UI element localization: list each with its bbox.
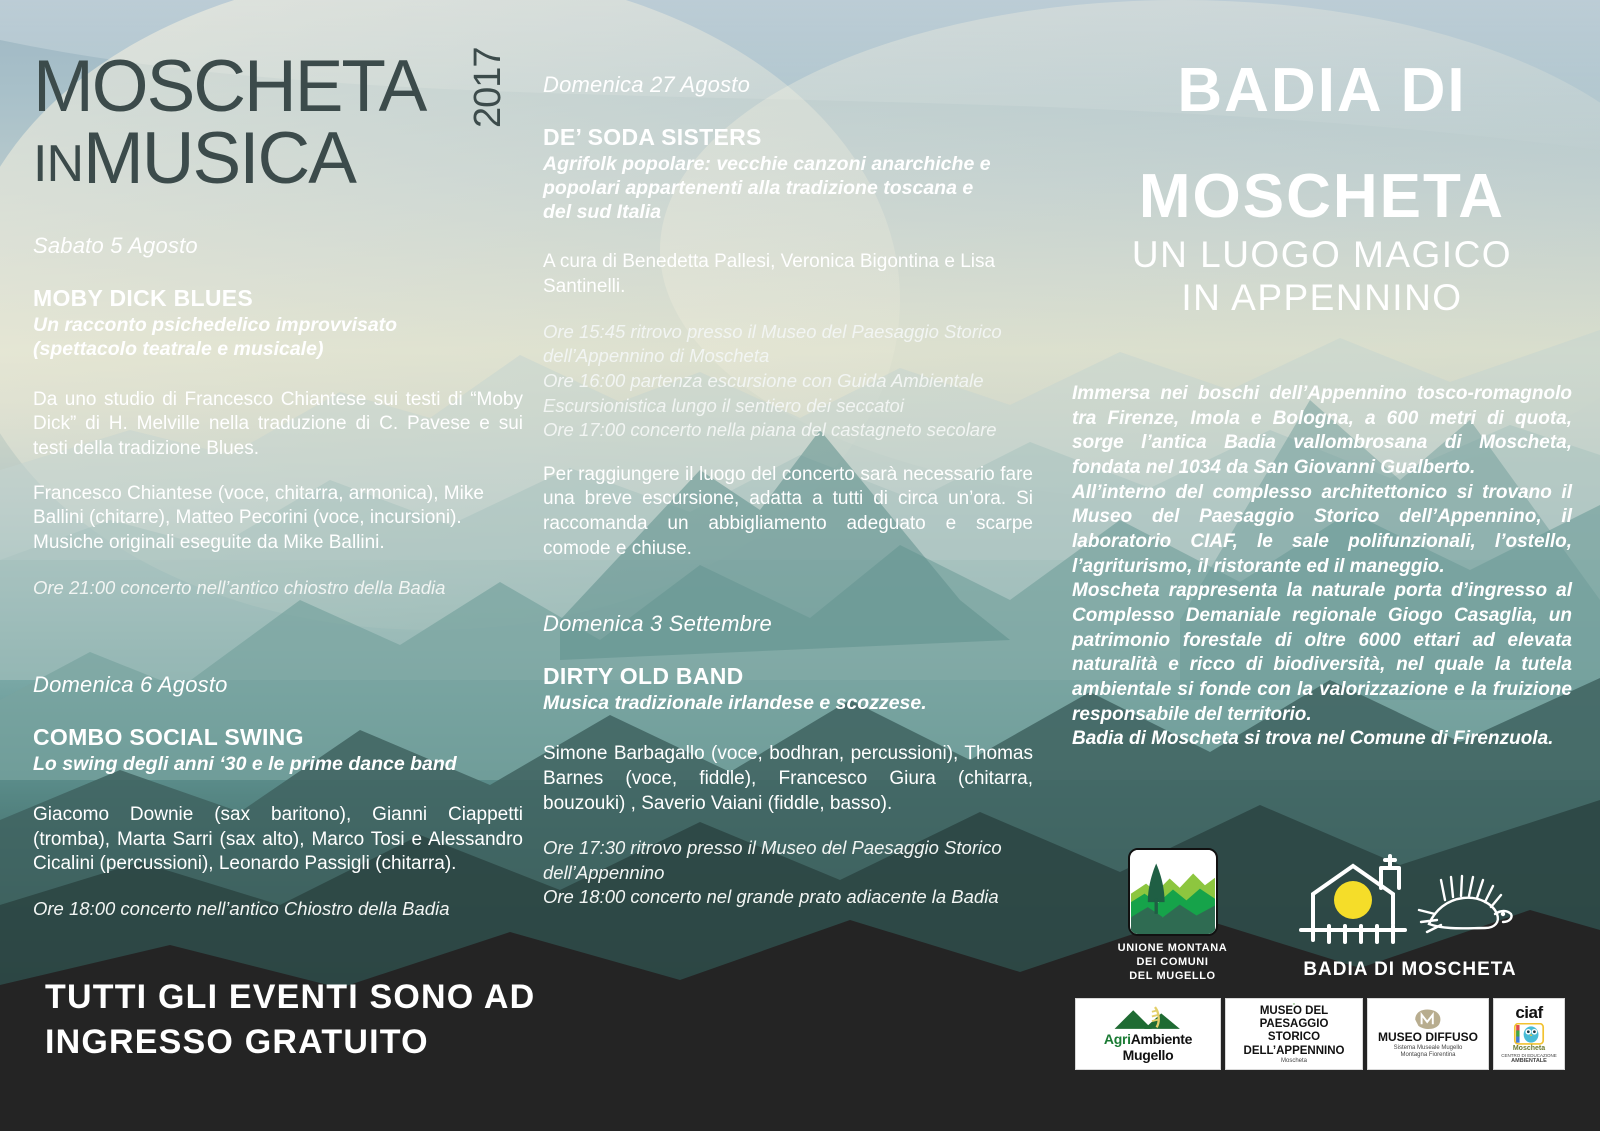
museo-paesaggio-line-3: Moscheta: [1281, 1058, 1307, 1065]
event-subtitle-line-2: popolari appartenenti alla tradizione to…: [543, 177, 973, 199]
event-band-name: MOBY DICK BLUES: [33, 285, 523, 312]
event-subtitle: Agrifolk popolare: vecchie canzoni anarc…: [543, 153, 1033, 224]
page-tagline-line-1: UN LUOGO MAGICO: [1132, 234, 1512, 275]
event-description: Da uno studio di Francesco Chiantese sui…: [33, 388, 523, 462]
ciaf-line-2: Moscheta: [1513, 1045, 1545, 1053]
page-tagline: UN LUOGO MAGICO IN APPENNINO: [1072, 234, 1572, 320]
place-description-1: Immersa nei boschi dell’Appennino tosco-…: [1072, 382, 1572, 481]
agriambiente-line-1: AgriAmbiente: [1104, 1031, 1192, 1047]
logo-museo-paesaggio: MUSEO DEL PAESAGGIO STORICO DELL’APPENNI…: [1225, 998, 1363, 1070]
museo-diffuso-icon: [1412, 1008, 1444, 1031]
um-line-1: UNIONE MONTANA: [1080, 942, 1265, 956]
event-subtitle-line-1: Un racconto psichedelico improvvisato: [33, 314, 397, 336]
event-subtitle-line-3: del sud Italia: [543, 201, 661, 223]
page-title-line-2: MOSCHETA: [1072, 166, 1572, 228]
event-schedule-line-2: Ore 16:00 partenza escursione con Guida …: [543, 370, 984, 416]
event-lineup: Giacomo Downie (sax baritono), Gianni Ci…: [33, 803, 523, 877]
column-place-right: BADIA DI MOSCHETA UN LUOGO MAGICO IN APP…: [1072, 60, 1572, 752]
page-tagline-line-2: IN APPENNINO: [1181, 277, 1462, 318]
event-lineup: Francesco Chiantese (voce, chitarra, arm…: [33, 482, 523, 556]
event-note: Per raggiungere il luogo del concerto sa…: [543, 463, 1033, 562]
logo-line-inmusica: INMUSICA: [33, 122, 355, 195]
logo-unione-montana: UNIONE MONTANA DEI COMUNI DEL MUGELLO: [1080, 848, 1265, 983]
event-subtitle-line-1: Agrifolk popolare: vecchie canzoni anarc…: [543, 153, 991, 175]
logo-unione-montana-caption: UNIONE MONTANA DEI COMUNI DEL MUGELLO: [1080, 942, 1265, 983]
church-porcupine-icon: [1295, 852, 1525, 952]
um-line-2: DEI COMUNI: [1080, 956, 1265, 970]
event-block-combo-social-swing: Domenica 6 Agosto COMBO SOCIAL SWING Lo …: [33, 672, 523, 921]
event-block-dirty-old-band: Domenica 3 Settembre DIRTY OLD BAND Musi…: [543, 611, 1033, 910]
owl-icon: [1508, 1023, 1550, 1045]
event-block-de-soda-sisters: Domenica 27 Agosto DE’ SODA SISTERS Agri…: [543, 72, 1033, 561]
free-entry-line-1: TUTTI GLI EVENTI SONO AD: [45, 975, 565, 1020]
logo-in: IN: [33, 135, 83, 193]
logo-museo-diffuso: MUSEO DIFFUSO Sistema Museale Mugello Mo…: [1367, 998, 1489, 1070]
event-date: Domenica 6 Agosto: [33, 672, 523, 698]
event-date: Domenica 3 Settembre: [543, 611, 1033, 637]
logo-musica: MUSICA: [83, 118, 355, 199]
agriambiente-line-2: Mugello: [1123, 1047, 1174, 1063]
event-subtitle: Musica tradizionale irlandese e scozzese…: [543, 692, 1033, 716]
museo-diffuso-line-1: MUSEO DIFFUSO: [1378, 1031, 1478, 1045]
event-schedule-line-1: Ore 17:30 ritrovo presso il Museo del Pa…: [543, 837, 1002, 883]
event-schedule: Ore 18:00 concerto nell’antico Chiostro …: [33, 897, 523, 922]
logo-agriambiente-mugella: AgriAmbiente Mugello: [1075, 998, 1221, 1070]
museo-diffuso-line-2: Sistema Museale Mugello: [1394, 1045, 1463, 1052]
mountain-forest-icon: [1128, 848, 1218, 936]
event-subtitle: Lo swing degli anni ‘30 e le prime dance…: [33, 753, 523, 777]
um-line-3: DEL MUGELLO: [1080, 970, 1265, 984]
event-date: Sabato 5 Agosto: [33, 233, 523, 259]
museo-paesaggio-line-1: MUSEO DEL PAESAGGIO: [1231, 1005, 1357, 1031]
festival-logo: MOSCHETA INMUSICA 2017: [33, 28, 493, 203]
column-events-left: MOSCHETA INMUSICA 2017 Sabato 5 Agosto M…: [33, 28, 523, 942]
place-description-3: Moscheta rappresenta la naturale porta d…: [1072, 579, 1572, 727]
event-lineup: Simone Barbagallo (voce, bodhran, percus…: [543, 742, 1033, 816]
agriambiente-agri: Agri: [1104, 1031, 1131, 1047]
event-subtitle: Un racconto psichedelico improvvisato (s…: [33, 314, 523, 362]
page-title-line-1: BADIA DI: [1072, 60, 1572, 122]
place-description-2: All’interno del complesso architettonico…: [1072, 481, 1572, 580]
column-events-middle: Domenica 27 Agosto DE’ SODA SISTERS Agri…: [543, 72, 1033, 930]
event-lineup: A cura di Benedetta Pallesi, Veronica Bi…: [543, 250, 1033, 299]
free-entry-line-2: INGRESSO GRATUITO: [45, 1020, 565, 1065]
logo-badia-caption: BADIA DI MOSCHETA: [1290, 959, 1530, 981]
event-band-name: DE’ SODA SISTERS: [543, 124, 1033, 151]
event-schedule: Ore 15:45 ritrovo presso il Museo del Pa…: [543, 320, 1033, 443]
event-band-name: COMBO SOCIAL SWING: [33, 724, 523, 751]
event-schedule: Ore 21:00 concerto nell’antico chiostro …: [33, 576, 523, 601]
place-description-4: Badia di Moscheta si trova nel Comune di…: [1072, 727, 1572, 752]
logo-line-moscheta: MOSCHETA: [33, 50, 425, 123]
event-schedule-line-3: Ore 17:00 concerto nella piana del casta…: [543, 419, 997, 440]
museo-paesaggio-line-2: STORICO DELL’APPENNINO: [1231, 1031, 1357, 1057]
partner-logos-top: UNIONE MONTANA DEI COMUNI DEL MUGELLO: [1075, 848, 1575, 980]
museo-diffuso-line-3: Montagna Fiorentina: [1400, 1052, 1455, 1059]
poster: MOSCHETA INMUSICA 2017 Sabato 5 Agosto M…: [0, 0, 1600, 1131]
wheat-hills-icon: [1113, 1005, 1183, 1031]
event-schedule: Ore 17:30 ritrovo presso il Museo del Pa…: [543, 836, 1033, 910]
event-subtitle-line-2: (spettacolo teatrale e musicale): [33, 338, 323, 360]
partner-logos-bottom: AgriAmbiente Mugello MUSEO DEL PAESAGGIO…: [1075, 998, 1565, 1070]
logo-ciaf: ciaf Moscheta CENTRO DI EDUCAZIONE AMBIE…: [1493, 998, 1565, 1070]
logo-badia-di-moscheta: BADIA DI MOSCHETA: [1290, 852, 1530, 981]
event-band-name: DIRTY OLD BAND: [543, 663, 1033, 690]
ciaf-wordmark: ciaf: [1515, 1003, 1542, 1023]
free-entry-notice: TUTTI GLI EVENTI SONO AD INGRESSO GRATUI…: [45, 975, 565, 1065]
event-date: Domenica 27 Agosto: [543, 72, 1033, 98]
agriambiente-ambiente: Ambiente: [1131, 1031, 1192, 1047]
event-schedule-line-1: Ore 15:45 ritrovo presso il Museo del Pa…: [543, 321, 1002, 367]
logo-year: 2017: [467, 47, 510, 128]
event-block-moby-dick-blues: Sabato 5 Agosto MOBY DICK BLUES Un racco…: [33, 233, 523, 600]
ciaf-line-4: AMBIENTALE: [1511, 1058, 1547, 1065]
event-schedule-line-2: Ore 18:00 concerto nel grande prato adia…: [543, 886, 999, 907]
